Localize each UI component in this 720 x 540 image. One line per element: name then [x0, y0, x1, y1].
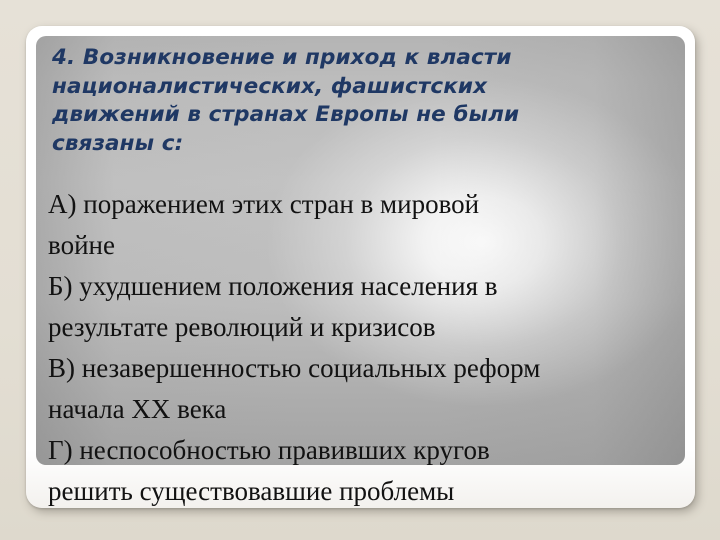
question-heading-line-4: связаны с:: [52, 130, 672, 159]
slide-stage: 4. Возникновение и приход к власти нацио…: [0, 0, 720, 540]
question-heading: 4. Возникновение и приход к власти нацио…: [52, 44, 672, 158]
answer-option-b[interactable]: Б) ухудшением положения населения в резу…: [48, 266, 688, 348]
question-heading-line-2: националистических, фашистских: [52, 73, 672, 102]
answer-option-c[interactable]: В) незавершенностью социальных реформ на…: [48, 348, 688, 430]
slide-text-layer: 4. Возникновение и приход к власти нацио…: [26, 26, 695, 508]
content-card: 4. Возникновение и приход к власти нацио…: [26, 26, 695, 508]
question-heading-line-1: 4. Возникновение и приход к власти: [52, 44, 672, 73]
answer-option-a[interactable]: А) поражением этих стран в мировой войне: [48, 184, 688, 266]
answers-list: А) поражением этих стран в мировой войне…: [48, 184, 688, 512]
question-heading-line-3: движений в странах Европы не были: [52, 101, 672, 130]
answer-option-d[interactable]: Г) неспособностью правивших кругов решит…: [48, 430, 688, 512]
